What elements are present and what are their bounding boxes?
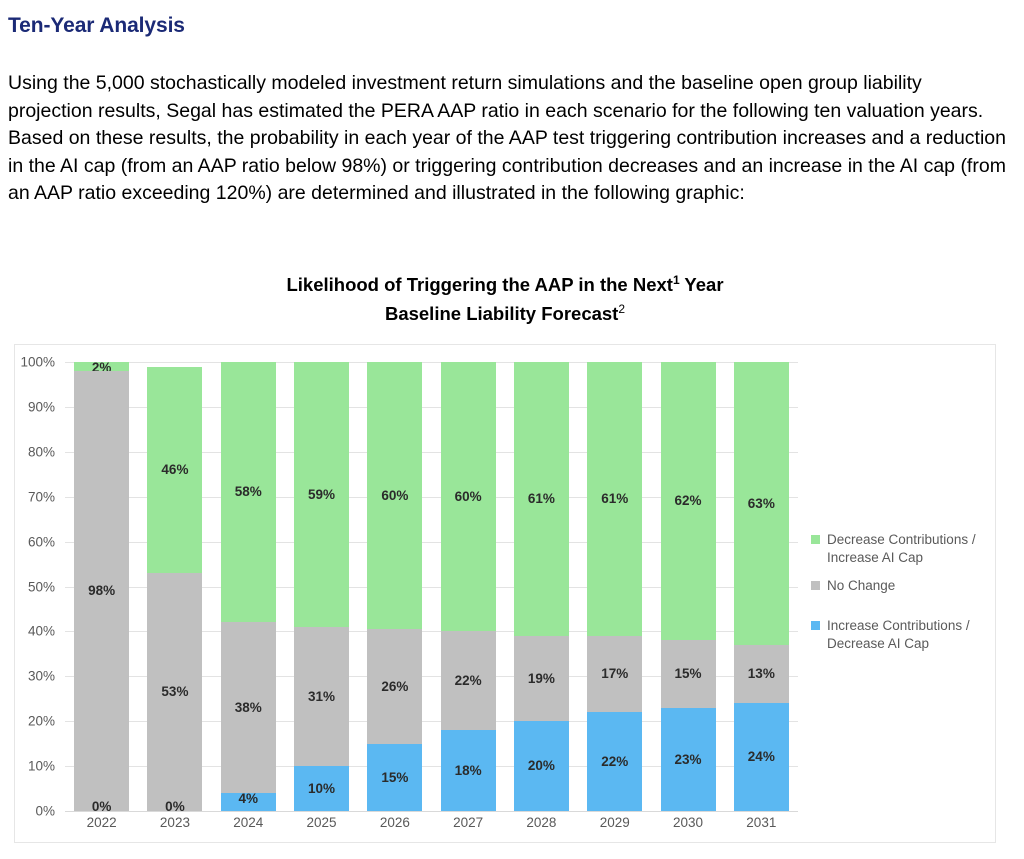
bar-segment[interactable]: 63% — [734, 362, 789, 645]
chart-title-footnote-1: 1 — [673, 273, 680, 287]
bar-stack: 60%22%18% — [441, 362, 496, 811]
x-axis-tick-label: 2024 — [212, 815, 285, 830]
bar-value-label: 38% — [235, 701, 262, 715]
y-axis-tick-label: 90% — [28, 399, 55, 414]
bar-segment[interactable]: 15% — [661, 640, 716, 707]
chart-title: Likelihood of Triggering the AAP in the … — [0, 268, 1010, 326]
chart-title-line-2-text: Baseline Liability Forecast — [385, 303, 618, 324]
body-paragraph: Using the 5,000 stochastically modeled i… — [8, 70, 1008, 208]
legend-label: No Change — [827, 577, 895, 595]
chart-title-footnote-2: 2 — [618, 302, 625, 316]
y-axis-tick-label: 60% — [28, 534, 55, 549]
bar-column-2031[interactable]: 63%13%24% — [725, 362, 798, 811]
bar-value-label: 0% — [165, 800, 185, 814]
bar-column-2027[interactable]: 60%22%18% — [431, 362, 504, 811]
y-axis-tick-label: 80% — [28, 444, 55, 459]
bar-column-2026[interactable]: 60%26%15% — [358, 362, 431, 811]
bar-segment[interactable]: 10% — [294, 766, 349, 811]
bar-value-label: 58% — [235, 485, 262, 499]
bar-stack: 46%53%0% — [147, 362, 202, 811]
bar-segment[interactable]: 38% — [221, 622, 276, 793]
legend-item[interactable]: No Change — [811, 577, 991, 595]
x-axis-tick-label: 2025 — [285, 815, 358, 830]
legend-color-swatch — [811, 621, 820, 630]
chart-title-line-2: Baseline Liability Forecast2 — [0, 297, 1010, 326]
y-axis-tick-label: 20% — [28, 714, 55, 729]
bar-stack: 61%17%22% — [587, 362, 642, 811]
bar-segment[interactable]: 24% — [734, 703, 789, 811]
bar-value-label: 24% — [748, 750, 775, 764]
chart-title-line-1: Likelihood of Triggering the AAP in the … — [0, 268, 1010, 297]
y-axis-tick-label: 10% — [28, 759, 55, 774]
page-title: Ten-Year Analysis — [8, 14, 185, 38]
bar-value-label: 22% — [601, 755, 628, 769]
bar-column-2030[interactable]: 62%15%23% — [651, 362, 724, 811]
bar-stack: 60%26%15% — [367, 362, 422, 811]
y-axis: 100%90%80%70%60%50%40%30%20%10%0% — [15, 362, 61, 811]
bar-segment[interactable]: 53% — [147, 573, 202, 811]
bar-stack: 59%31%10% — [294, 362, 349, 811]
bar-segment[interactable]: 17% — [587, 636, 642, 712]
bar-column-2029[interactable]: 61%17%22% — [578, 362, 651, 811]
bar-segment[interactable]: 23% — [661, 708, 716, 811]
legend-label: Decrease Contributions /Increase AI Cap — [827, 531, 976, 567]
bar-value-label: 15% — [675, 667, 702, 681]
bar-value-label: 61% — [528, 492, 555, 506]
bar-segment[interactable]: 4% — [221, 793, 276, 811]
bar-value-label: 60% — [455, 490, 482, 504]
bar-value-label: 98% — [88, 584, 115, 598]
bar-value-label: 31% — [308, 690, 335, 704]
bar-segment[interactable]: 31% — [294, 627, 349, 766]
bar-segment[interactable]: 19% — [514, 636, 569, 721]
bar-segment[interactable]: 60% — [441, 362, 496, 631]
bar-column-2024[interactable]: 58%38%4% — [212, 362, 285, 811]
bar-value-label: 26% — [381, 680, 408, 694]
bar-column-2025[interactable]: 59%31%10% — [285, 362, 358, 811]
bar-value-label: 59% — [308, 488, 335, 502]
x-axis-tick-label: 2023 — [138, 815, 211, 830]
legend-color-swatch — [811, 581, 820, 590]
bar-segment[interactable]: 61% — [514, 362, 569, 636]
bar-segment[interactable]: 58% — [221, 362, 276, 622]
plot-area: 2%98%0%46%53%0%58%38%4%59%31%10%60%26%15… — [65, 362, 798, 811]
x-axis-tick-label: 2027 — [431, 815, 504, 830]
bar-segment[interactable]: 22% — [441, 631, 496, 730]
bar-stack: 2%98%0% — [74, 362, 129, 811]
bar-value-label: 17% — [601, 667, 628, 681]
bar-value-label: 61% — [601, 492, 628, 506]
x-axis: 2022202320242025202620272028202920302031 — [65, 815, 798, 830]
bar-value-label: 10% — [308, 782, 335, 796]
bar-segment[interactable]: 60% — [367, 362, 422, 629]
x-axis-tick-label: 2028 — [505, 815, 578, 830]
bar-value-label: 13% — [748, 667, 775, 681]
bar-value-label: 22% — [455, 674, 482, 688]
bar-column-2028[interactable]: 61%19%20% — [505, 362, 578, 811]
bar-segment[interactable]: 13% — [734, 645, 789, 703]
bar-value-label: 23% — [675, 753, 702, 767]
bar-segment[interactable]: 61% — [587, 362, 642, 636]
x-axis-tick-label: 2026 — [358, 815, 431, 830]
bar-value-label: 46% — [161, 463, 188, 477]
bar-value-label: 62% — [675, 494, 702, 508]
legend-label: Increase Contributions /Decrease AI Cap — [827, 617, 970, 653]
bar-stack: 62%15%23% — [661, 362, 716, 811]
chart-title-line-1-tail: Year — [680, 274, 724, 295]
bar-value-label: 19% — [528, 672, 555, 686]
y-axis-tick-label: 50% — [28, 579, 55, 594]
bar-segment[interactable]: 18% — [441, 730, 496, 811]
y-axis-tick-label: 40% — [28, 624, 55, 639]
bar-column-2023[interactable]: 46%53%0% — [138, 362, 211, 811]
bar-value-label: 0% — [92, 800, 112, 814]
legend-item[interactable]: Decrease Contributions /Increase AI Cap — [811, 531, 991, 567]
y-axis-tick-label: 30% — [28, 669, 55, 684]
bar-segment[interactable]: 62% — [661, 362, 716, 640]
y-axis-tick-label: 0% — [35, 804, 55, 819]
legend-color-swatch — [811, 535, 820, 544]
y-axis-tick-label: 70% — [28, 489, 55, 504]
bar-segment[interactable]: 2% — [74, 362, 129, 371]
bar-column-2022[interactable]: 2%98%0% — [65, 362, 138, 811]
legend-item[interactable]: Increase Contributions /Decrease AI Cap — [811, 617, 991, 653]
bar-value-label: 63% — [748, 497, 775, 511]
y-axis-tick-label: 100% — [20, 355, 55, 370]
x-axis-tick-label: 2030 — [651, 815, 724, 830]
chart-legend: Decrease Contributions /Increase AI CapN… — [811, 531, 991, 663]
bar-value-label: 15% — [381, 771, 408, 785]
bar-stack: 63%13%24% — [734, 362, 789, 811]
bar-value-label: 4% — [238, 792, 258, 806]
x-axis-tick-label: 2022 — [65, 815, 138, 830]
bar-value-label: 18% — [455, 764, 482, 778]
bar-group: 2%98%0%46%53%0%58%38%4%59%31%10%60%26%15… — [65, 362, 798, 811]
chart-container: 100%90%80%70%60%50%40%30%20%10%0% 2%98%0… — [14, 344, 996, 843]
x-axis-tick-label: 2031 — [725, 815, 798, 830]
bar-value-label: 60% — [381, 489, 408, 503]
bar-segment[interactable]: 46% — [147, 367, 202, 574]
bar-value-label: 20% — [528, 759, 555, 773]
bar-segment[interactable]: 98% — [74, 371, 129, 811]
bar-segment[interactable]: 26% — [367, 629, 422, 745]
chart-title-line-1-text: Likelihood of Triggering the AAP in the … — [286, 274, 672, 295]
bar-segment[interactable]: 22% — [587, 712, 642, 811]
bar-segment[interactable]: 15% — [367, 744, 422, 811]
bar-stack: 58%38%4% — [221, 362, 276, 811]
bar-stack: 61%19%20% — [514, 362, 569, 811]
bar-segment[interactable]: 20% — [514, 721, 569, 811]
x-axis-tick-label: 2029 — [578, 815, 651, 830]
bar-segment[interactable]: 59% — [294, 362, 349, 627]
bar-value-label: 53% — [161, 685, 188, 699]
